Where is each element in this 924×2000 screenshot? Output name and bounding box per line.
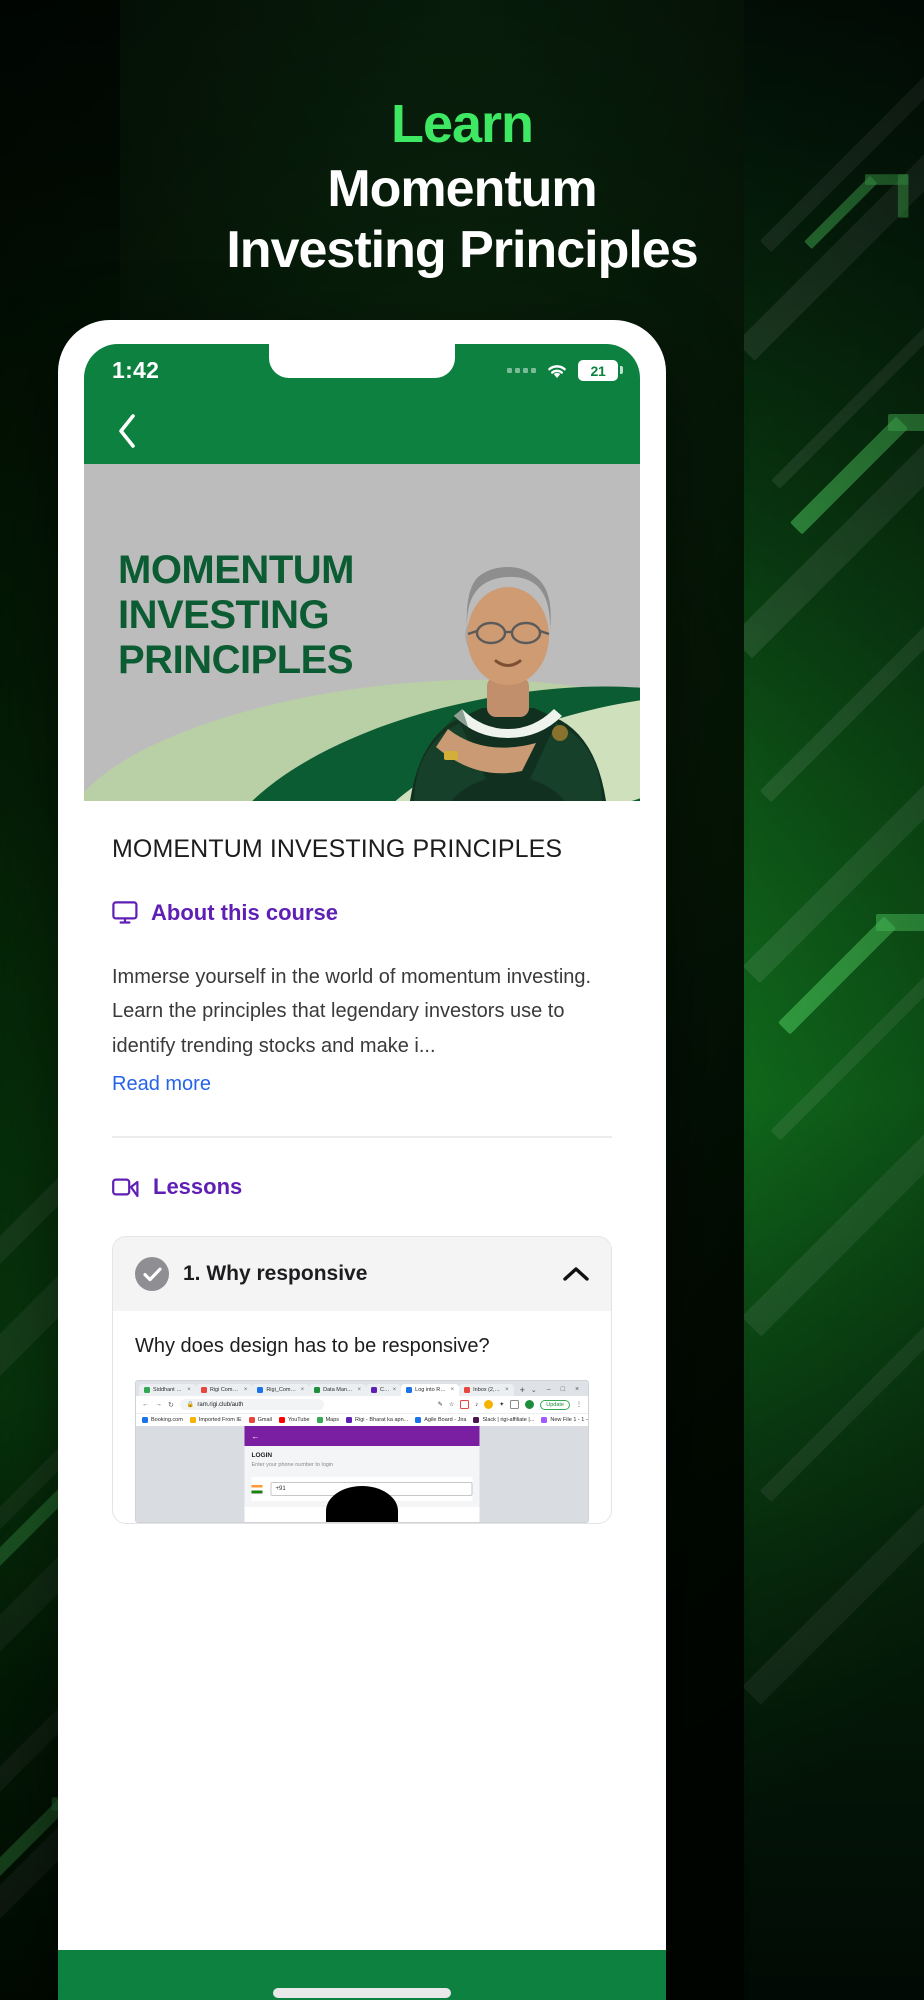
lesson-header[interactable]: 1. Why responsive	[113, 1237, 611, 1311]
hero-title-line-1: MOMENTUM	[118, 548, 354, 593]
login-title: LOGIN	[251, 1452, 472, 1459]
lessons-section-label: Lessons	[153, 1174, 242, 1200]
battery-level: 21	[591, 363, 606, 379]
phone-mockup: 1:42 21	[58, 320, 666, 2000]
bookmark-item[interactable]: Rigi - Bharat ka apn...	[346, 1417, 408, 1423]
chevron-up-icon[interactable]	[563, 1261, 589, 1287]
update-button[interactable]: Update	[540, 1400, 570, 1410]
browser-omnibox-row: ← → ↻ 🔒 ram.rigi.club/auth ✎ ☆	[136, 1396, 588, 1413]
browser-tab[interactable]: Rigi_Commun×	[252, 1384, 309, 1396]
headline-line-3: Investing Principles	[0, 220, 924, 281]
bookmark-label: Imported From IE	[199, 1417, 242, 1423]
bookmark-label: Gmail	[258, 1417, 272, 1423]
signal-dots-icon	[507, 368, 536, 373]
url-text: ram.rigi.club/auth	[197, 1402, 243, 1408]
arrow-right-icon[interactable]: →	[155, 1401, 162, 1408]
browser-tab-active[interactable]: Log into Ram -×	[401, 1384, 459, 1396]
about-section-header: About this course	[112, 900, 612, 926]
bookmark-label: Slack | rigi-affiliate |...	[482, 1417, 534, 1423]
phone-notch	[269, 344, 455, 378]
app-nav-bar	[84, 398, 640, 464]
browser-tab-strip: Siddhant Johc× Rigi Communi× Rigi_Commun…	[136, 1381, 588, 1396]
headline-line-1: Learn	[0, 96, 924, 153]
close-icon[interactable]: ×	[505, 1387, 509, 1393]
home-indicator	[273, 1988, 451, 1998]
tab-title: Data Manager	[323, 1387, 354, 1393]
bookmark-item[interactable]: Imported From IE	[190, 1417, 242, 1423]
browser-viewport: ← LOGIN Enter your phone number to login…	[136, 1426, 588, 1522]
bookmark-item[interactable]: Slack | rigi-affiliate |...	[473, 1417, 534, 1423]
about-section-label: About this course	[151, 900, 338, 926]
monitor-icon	[112, 901, 138, 925]
chevron-down-icon[interactable]: ⌄	[531, 1386, 537, 1394]
lessons-section-header: Lessons	[112, 1174, 612, 1200]
bookmark-label: YouTube	[288, 1417, 310, 1423]
hero-title: MOMENTUM INVESTING PRINCIPLES	[118, 548, 354, 684]
login-header: ←	[244, 1426, 479, 1446]
lesson-browser-screenshot: Siddhant Johc× Rigi Communi× Rigi_Commun…	[135, 1380, 589, 1523]
bookmark-label: Maps	[326, 1417, 339, 1423]
lesson-body: Why does design has to be responsive? Si…	[113, 1311, 611, 1523]
check-circle-icon	[135, 1257, 169, 1291]
tab-title: Siddhant Johc	[153, 1387, 184, 1393]
headline-line-2: Momentum	[0, 159, 924, 220]
tab-title: Rigi Communi	[210, 1387, 241, 1393]
bookmark-item[interactable]: New File 1 - 1 – Fig...	[541, 1417, 588, 1423]
wifi-icon	[545, 362, 569, 380]
lesson-question: Why does design has to be responsive?	[135, 1335, 589, 1358]
browser-tab[interactable]: Siddhant Johc×	[139, 1384, 196, 1396]
promo-headline: Learn Momentum Investing Principles	[0, 96, 924, 281]
course-hero-banner: MOMENTUM INVESTING PRINCIPLES	[84, 464, 640, 801]
arrow-left-icon[interactable]: ←	[251, 1432, 259, 1441]
close-icon[interactable]: ×	[187, 1387, 191, 1393]
bookmark-item[interactable]: YouTube	[279, 1417, 310, 1423]
bookmark-item[interactable]: Maps	[317, 1417, 339, 1423]
status-bar: 1:42 21	[84, 344, 640, 398]
close-icon[interactable]: ×	[575, 1386, 579, 1394]
login-subtitle: Enter your phone number to login	[251, 1462, 472, 1468]
section-divider	[112, 1136, 612, 1138]
close-icon[interactable]: ×	[301, 1387, 305, 1393]
phone-screen: 1:42 21	[84, 344, 640, 2000]
lesson-title: 1. Why responsive	[183, 1262, 549, 1286]
bookmark-item[interactable]: Agile Board - Jira	[415, 1417, 466, 1423]
profile-avatar[interactable]	[525, 1400, 534, 1409]
extensions-puzzle-icon[interactable]: ✦	[499, 1401, 504, 1408]
india-flag-icon[interactable]	[251, 1485, 262, 1494]
bookmark-star-icon[interactable]: ☆	[449, 1401, 454, 1408]
extension-icon[interactable]	[510, 1400, 519, 1409]
browser-tab[interactable]: Chat×	[366, 1384, 401, 1396]
browser-tab[interactable]: Inbox (2,002)×	[459, 1384, 514, 1396]
extension-icon[interactable]	[460, 1400, 469, 1409]
back-button[interactable]	[106, 410, 148, 452]
kebab-menu-icon[interactable]: ⋮	[576, 1401, 582, 1408]
lock-icon: 🔒	[187, 1401, 194, 1408]
browser-bookmarks-bar: Booking.com Imported From IE Gmail YouTu…	[136, 1413, 588, 1426]
maximize-icon[interactable]: □	[561, 1386, 565, 1394]
bookmark-item[interactable]: Gmail	[249, 1417, 272, 1423]
lesson-card: 1. Why responsive Why does design has to…	[112, 1236, 612, 1524]
read-more-link[interactable]: Read more	[112, 1073, 612, 1096]
bookmark-label: Rigi - Bharat ka apn...	[355, 1417, 408, 1423]
promo-screenshot: Learn Momentum Investing Principles 1:42…	[0, 0, 924, 2000]
arrow-left-icon[interactable]: ←	[142, 1401, 149, 1408]
course-title: MOMENTUM INVESTING PRINCIPLES	[112, 835, 612, 864]
bookmark-label: New File 1 - 1 – Fig...	[550, 1417, 588, 1423]
course-description: Immerse yourself in the world of momentu…	[112, 960, 612, 1063]
address-bar[interactable]: 🔒 ram.rigi.club/auth	[180, 1399, 324, 1410]
close-icon[interactable]: ×	[357, 1387, 361, 1393]
share-icon[interactable]: ✎	[438, 1401, 443, 1408]
close-icon[interactable]: ×	[451, 1387, 455, 1393]
phone-bottom-bar	[58, 1950, 666, 2000]
chevron-left-icon	[116, 413, 138, 449]
status-time: 1:42	[112, 357, 159, 384]
extension-icon[interactable]	[484, 1400, 493, 1409]
video-camera-icon	[112, 1177, 140, 1197]
tab-title: Log into Ram -	[415, 1387, 447, 1393]
close-icon[interactable]: ×	[393, 1387, 397, 1393]
plus-icon[interactable]: +	[514, 1385, 531, 1395]
reload-icon[interactable]: ↻	[168, 1401, 174, 1409]
tab-title: Chat	[380, 1387, 390, 1393]
tab-title: Rigi_Commun	[266, 1387, 297, 1393]
hero-title-line-3: PRINCIPLES	[118, 638, 354, 683]
minimize-icon[interactable]: –	[547, 1386, 551, 1394]
bookmark-label: Agile Board - Jira	[424, 1417, 466, 1423]
instructor-photo	[392, 501, 624, 801]
extension-icon[interactable]: ♪	[475, 1402, 478, 1408]
close-icon[interactable]: ×	[244, 1387, 248, 1393]
bookmark-item[interactable]: Booking.com	[142, 1417, 183, 1423]
battery-icon: 21	[578, 360, 618, 381]
hero-title-line-2: INVESTING	[118, 593, 354, 638]
browser-tab[interactable]: Data Manager×	[309, 1384, 366, 1396]
tab-title: Inbox (2,002)	[473, 1387, 502, 1393]
bookmark-label: Booking.com	[151, 1417, 183, 1423]
course-content: MOMENTUM INVESTING PRINCIPLES About this…	[84, 835, 640, 1524]
browser-tab[interactable]: Rigi Communi×	[196, 1384, 253, 1396]
